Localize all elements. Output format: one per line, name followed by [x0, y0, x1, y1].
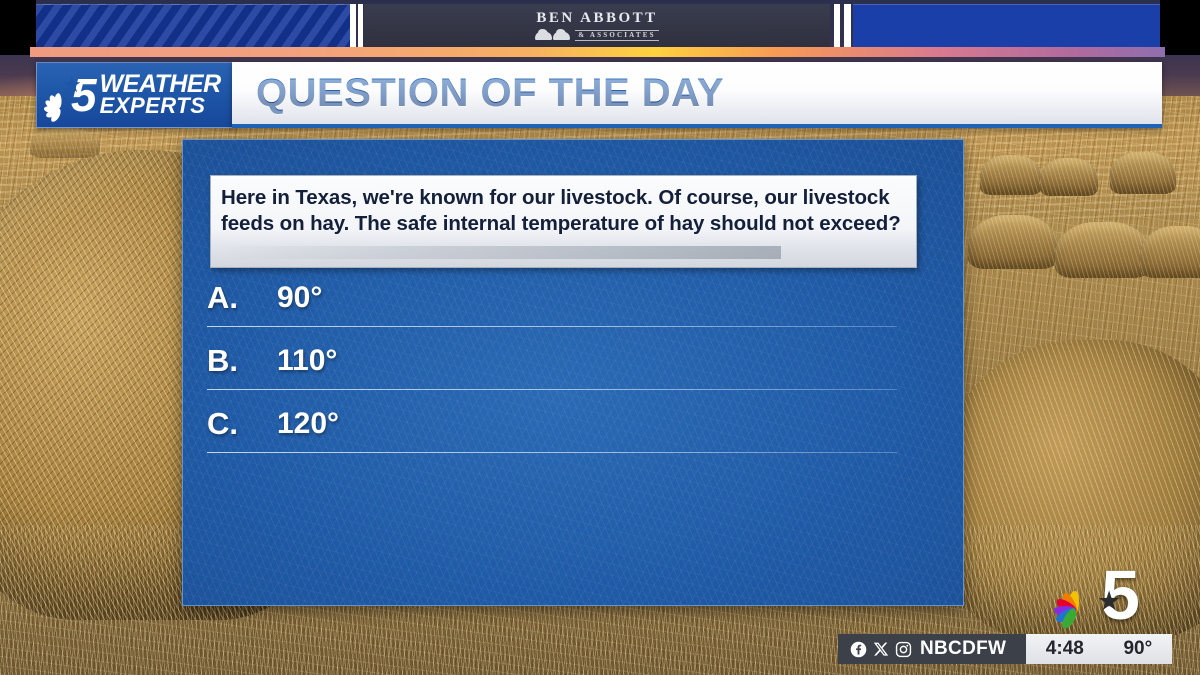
answer-option-c[interactable]: C. 120°	[207, 406, 919, 469]
hay-bale-distant	[30, 128, 100, 158]
question-box-shine	[221, 246, 781, 259]
answer-option-b[interactable]: B. 110°	[207, 343, 919, 406]
social-handle: NBCDFW	[920, 638, 1006, 660]
hay-bale-distant	[1040, 158, 1098, 196]
hay-bale-distant	[980, 155, 1042, 195]
title-bar: QUESTION OF THE DAY	[232, 62, 1162, 128]
option-value: 110°	[277, 344, 337, 378]
option-letter: C.	[207, 406, 238, 442]
page-title: QUESTION OF THE DAY	[256, 71, 724, 116]
sponsor-bar-divider	[358, 4, 363, 48]
option-value: 120°	[277, 407, 339, 441]
sponsor-bar-divider	[350, 4, 356, 48]
logo-line-experts: EXPERTS	[100, 96, 221, 116]
option-underline	[207, 452, 897, 453]
time-temp-group: 4:48 90°	[1026, 634, 1172, 664]
sunset-gradient-strip	[30, 47, 1165, 57]
sponsor-name: BEN ABBOTT	[535, 11, 658, 26]
logo-wordmark: WEATHER EXPERTS	[100, 73, 221, 117]
status-bar: NBCDFW 4:48 90°	[838, 634, 1172, 664]
nbc-peacock-logo-icon	[1049, 568, 1099, 622]
option-letter: A.	[207, 280, 238, 316]
bar-letterbox-right	[1160, 0, 1200, 55]
quiz-panel: Here in Texas, we're known for our lives…	[182, 139, 964, 606]
facebook-icon[interactable]	[850, 641, 867, 658]
station-bug: 5	[1018, 556, 1168, 634]
car-icon	[535, 32, 570, 40]
sponsor-bar-right-panel	[853, 4, 1160, 48]
hay-bale-distant	[1110, 152, 1176, 194]
sponsor-logo: BEN ABBOTT & ASSOCIATES	[535, 11, 658, 41]
answer-option-a[interactable]: A. 90°	[207, 280, 919, 343]
sponsor-logo-panel: BEN ABBOTT & ASSOCIATES	[364, 4, 830, 48]
station-star-icon: ★	[1097, 588, 1121, 615]
broadcast-screen: BEN ABBOTT & ASSOCIATES 5	[0, 0, 1200, 675]
sponsor-bar-divider	[844, 4, 851, 48]
answer-options-list: A. 90° B. 110° C. 120°	[207, 280, 919, 469]
sponsor-bar-left-panel	[36, 4, 350, 48]
question-box: Here in Texas, we're known for our lives…	[210, 175, 917, 268]
sponsor-bar-divider	[834, 4, 840, 48]
sponsor-bar: BEN ABBOTT & ASSOCIATES	[0, 0, 1200, 55]
hay-bale-distant	[1055, 222, 1151, 278]
hay-bale-distant	[968, 215, 1058, 269]
x-twitter-icon[interactable]	[873, 641, 889, 657]
question-text: Here in Texas, we're known for our lives…	[221, 185, 904, 237]
option-underline	[207, 389, 897, 390]
hay-bale-distant	[1140, 226, 1200, 278]
option-letter: B.	[207, 343, 238, 379]
clock-time: 4:48	[1046, 638, 1084, 660]
sponsor-subtitle: & ASSOCIATES	[575, 30, 658, 41]
option-underline	[207, 326, 897, 327]
social-handle-group: NBCDFW	[838, 634, 1026, 664]
current-temperature: 90°	[1123, 638, 1152, 660]
instagram-icon[interactable]	[895, 641, 912, 658]
option-value: 90°	[277, 281, 322, 315]
